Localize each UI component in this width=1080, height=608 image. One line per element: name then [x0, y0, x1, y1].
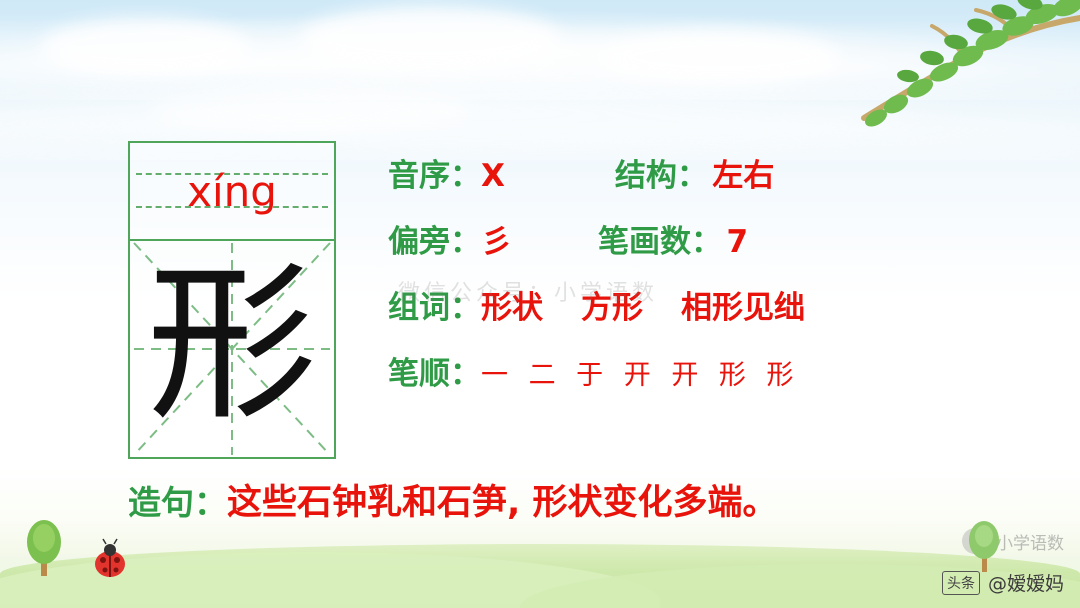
label-jiegou: 结构：	[615, 158, 708, 194]
label-zaoju: 造句：	[128, 476, 227, 524]
segment-bihuashu: 笔画数： 7	[598, 216, 748, 261]
label-bishun: 笔顺：	[388, 348, 481, 393]
pinyin-text: xíng	[130, 143, 334, 239]
cloud-center	[300, 6, 560, 70]
value-bihuashu: 7	[726, 224, 748, 260]
character-glyph: 形	[130, 239, 334, 459]
row-yinxu-jiegou: 音序： X 结构： 左右	[388, 150, 1048, 195]
toutiao-logo-icon: 头条	[942, 571, 980, 595]
tree-decoration-right	[962, 518, 1008, 574]
label-bihuashu: 笔画数：	[598, 224, 722, 260]
character-cell: 形	[130, 239, 334, 459]
branch-decoration	[780, 0, 1080, 140]
label-yinxu: 音序：	[388, 150, 481, 195]
row-bishun: 笔顺： 一 二 于 开 开 形 形	[388, 348, 1048, 393]
segment-jiegou: 结构： 左右	[615, 150, 774, 195]
ladybug-decoration	[84, 538, 134, 580]
slide-canvas: xíng 形 音序： X 结构： 左右 偏旁： 彡 笔画	[0, 0, 1080, 608]
stroke-sequence: 一 二 于 开 开 形 形	[481, 353, 800, 392]
pinyin-cell: xíng	[130, 143, 334, 239]
sentence-row: 造句： 这些石钟乳和石笋, 形状变化多端。	[128, 474, 777, 525]
cloud-low	[150, 88, 470, 132]
cloud-left	[40, 18, 250, 76]
tree-decoration-left	[18, 518, 70, 578]
character-grid-box: xíng 形	[128, 141, 336, 459]
word-3: 相形见绌	[681, 282, 805, 327]
row-pianpang-bihuashu: 偏旁： 彡 笔画数： 7	[388, 216, 1048, 261]
value-pianpang: 彡	[481, 216, 512, 261]
value-yinxu: X	[481, 158, 505, 194]
watermark-center: 微信公众号：小学语数	[398, 275, 658, 307]
value-jiegou: 左右	[712, 158, 774, 194]
sentence-text: 这些石钟乳和石笋, 形状变化多端。	[227, 474, 777, 525]
label-pianpang: 偏旁：	[388, 216, 481, 261]
